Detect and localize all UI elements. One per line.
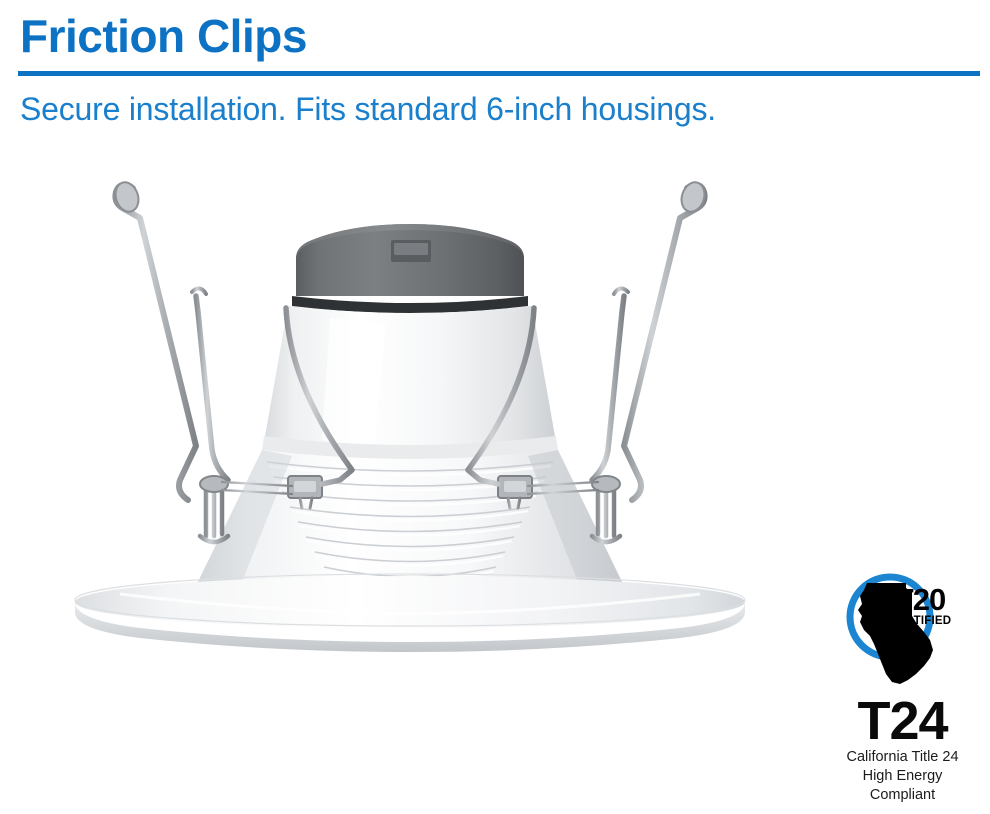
t24-caption-line-1: California Title 24	[820, 748, 985, 767]
product-image	[0, 150, 820, 670]
t24-caption-line-2: High Energy	[820, 767, 985, 786]
t24-mark: T24	[820, 694, 985, 748]
driver-housing-cap	[292, 224, 528, 313]
downlight-illustration	[0, 150, 820, 670]
t20-text: T20	[895, 582, 945, 617]
clip-coil-right	[592, 476, 620, 542]
page-subtitle: Secure installation. Fits standard 6-inc…	[20, 88, 716, 130]
trim-flange	[75, 574, 745, 652]
t24-caption-line-3: Compliant	[820, 786, 985, 805]
reflector-cone	[262, 306, 558, 459]
housing-vent-label	[391, 240, 431, 262]
certification-badge: T20 CERTIFIED T24 California Title 24 Hi…	[820, 570, 985, 800]
page-title: Friction Clips	[20, 8, 307, 64]
t20-certified-mark: T20 CERTIFIED	[820, 570, 985, 690]
t20-certified-text: CERTIFIED	[889, 615, 952, 627]
clip-coil-left	[200, 476, 228, 542]
title-divider-rule	[18, 71, 980, 76]
t20-california-icon: T20 CERTIFIED	[820, 570, 985, 690]
